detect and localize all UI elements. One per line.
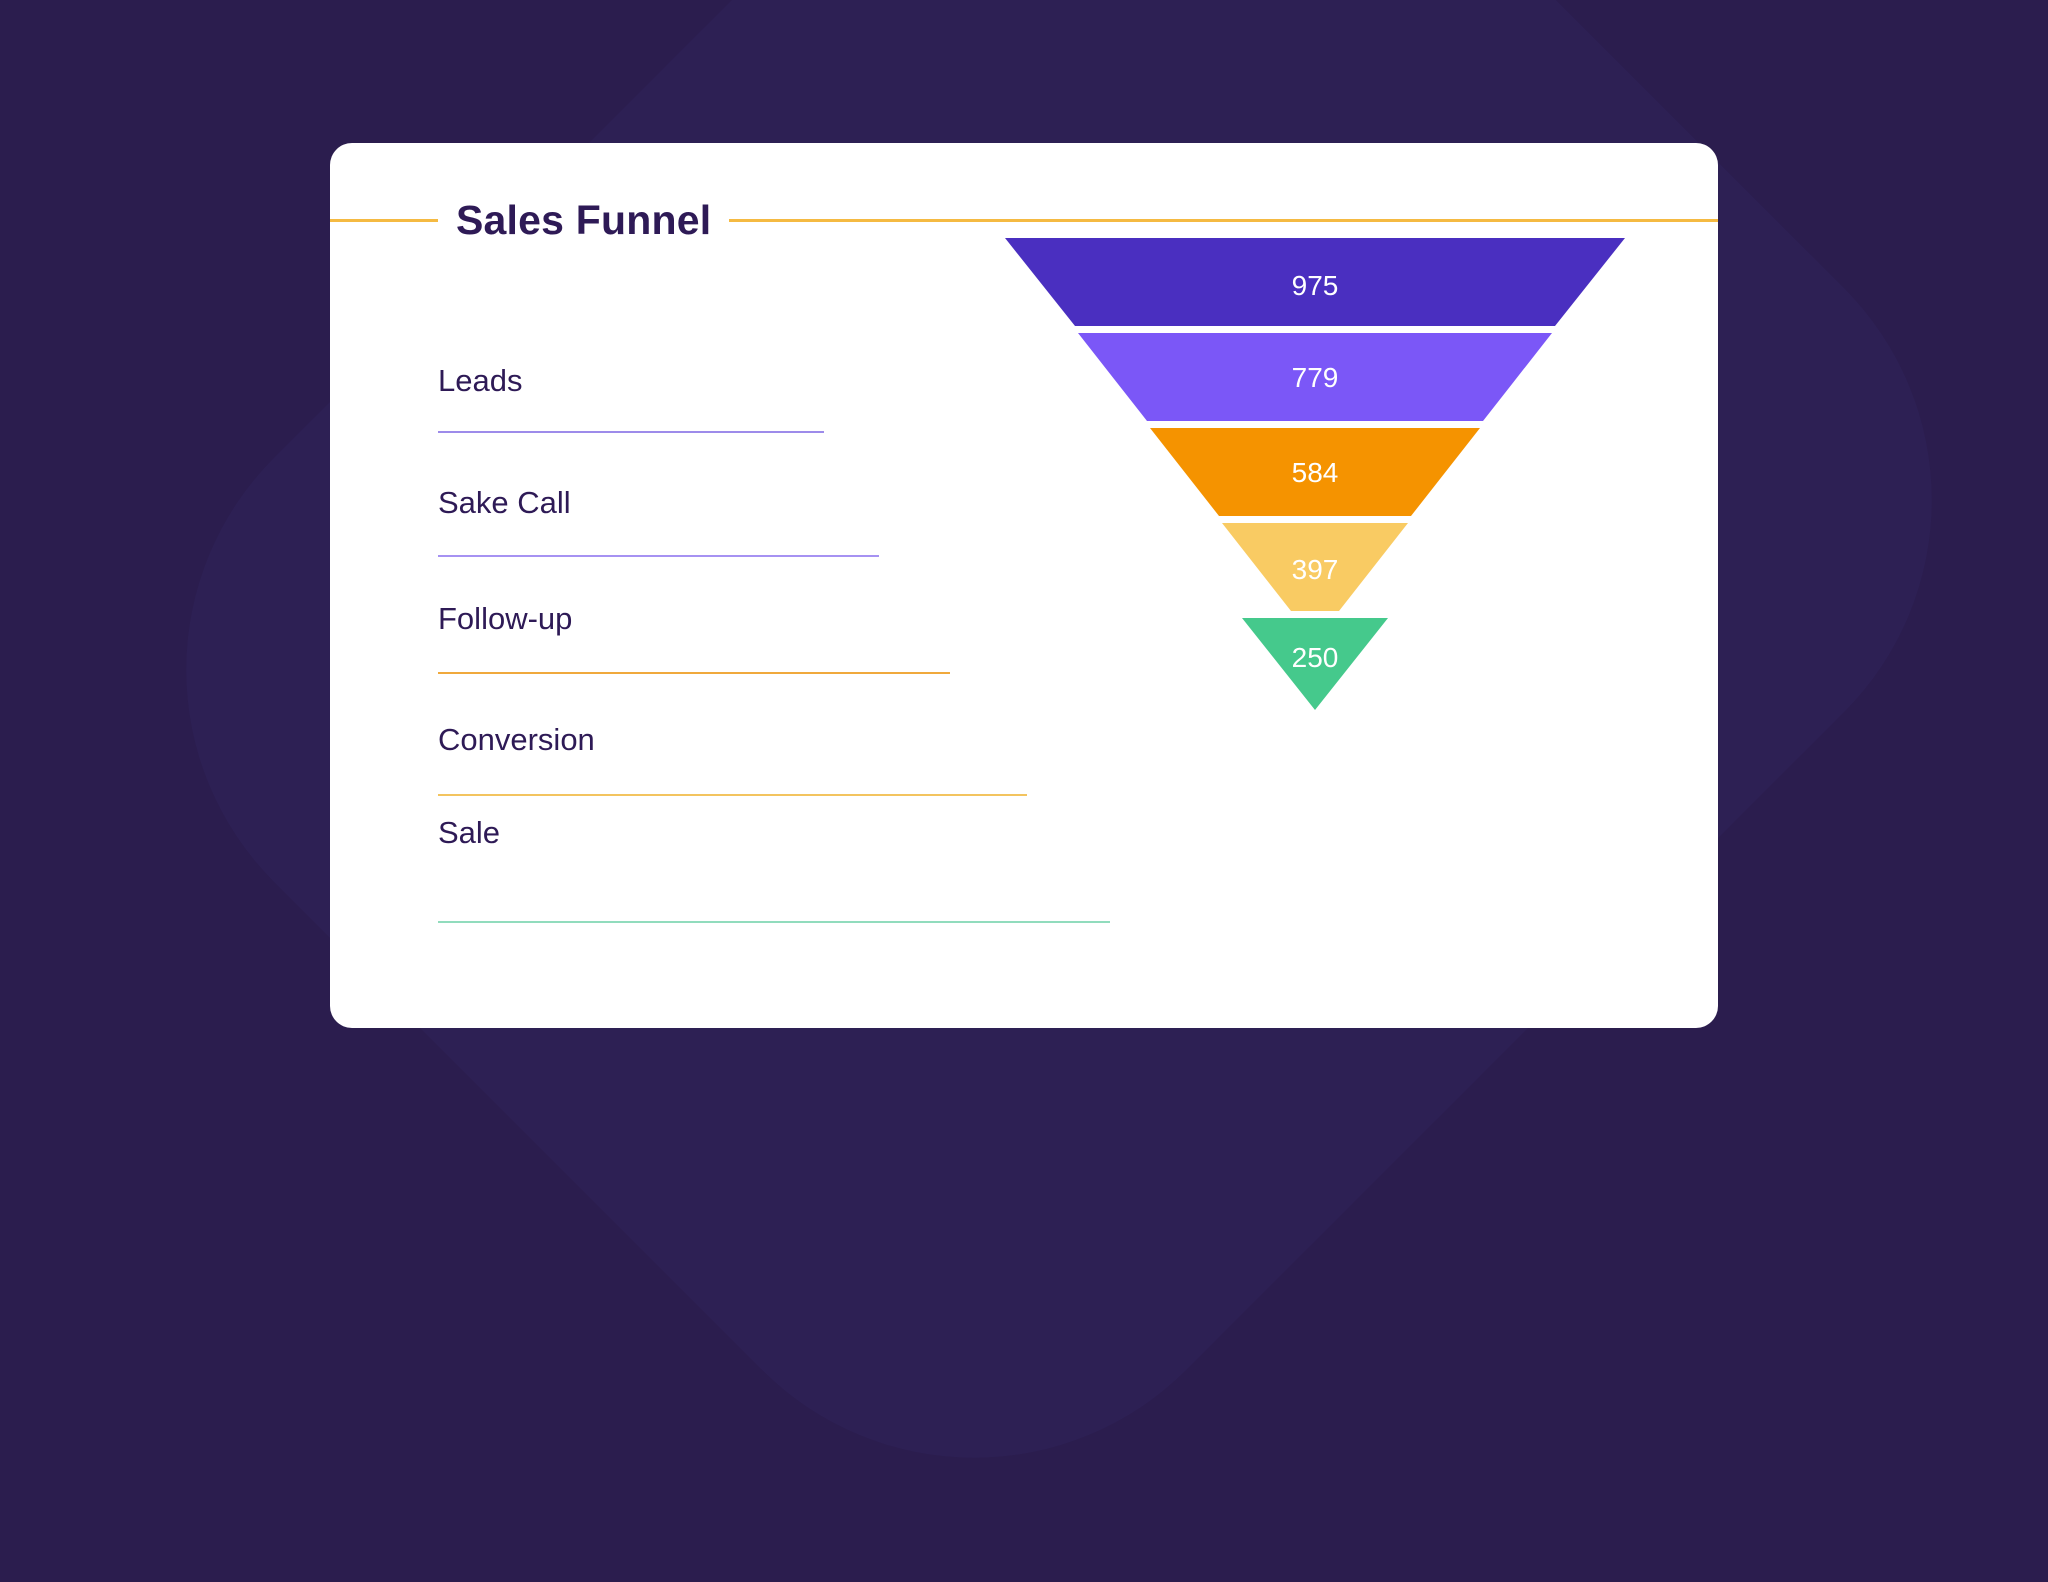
funnel-value-conversion: 397 [1292, 554, 1339, 585]
stage-underline-conversion [438, 794, 1027, 796]
stage-underline-follow-up [438, 672, 950, 674]
funnel-segment-conversion[interactable]: 397 [1222, 523, 1408, 611]
funnel-segment-sake-call[interactable]: 779 [1078, 333, 1552, 421]
stage-label-sale: Sale [438, 815, 500, 851]
funnel-value-sake-call: 779 [1292, 362, 1339, 393]
funnel-value-sale: 250 [1292, 642, 1339, 673]
stage-label-sake-call: Sake Call [438, 485, 571, 521]
funnel-chart: 975 779 584 397 250 [950, 143, 1718, 1028]
funnel-segment-sale[interactable]: 250 [1242, 618, 1388, 710]
funnel-svg: 975 779 584 397 250 [950, 143, 1718, 1028]
stage-underline-sake-call [438, 555, 879, 557]
stage-underline-leads [438, 431, 824, 433]
funnel-segment-leads[interactable]: 975 [1005, 238, 1625, 326]
funnel-segment-follow-up[interactable]: 584 [1150, 428, 1480, 516]
stage-label-conversion: Conversion [438, 722, 595, 758]
funnel-value-leads: 975 [1292, 270, 1339, 301]
stage-label-follow-up: Follow-up [438, 601, 572, 637]
page-title: Sales Funnel [438, 185, 729, 255]
funnel-value-follow-up: 584 [1292, 457, 1339, 488]
sales-funnel-card: Sales Funnel Leads Sake Call Follow-up C… [330, 143, 1718, 1028]
stage-label-leads: Leads [438, 363, 522, 399]
